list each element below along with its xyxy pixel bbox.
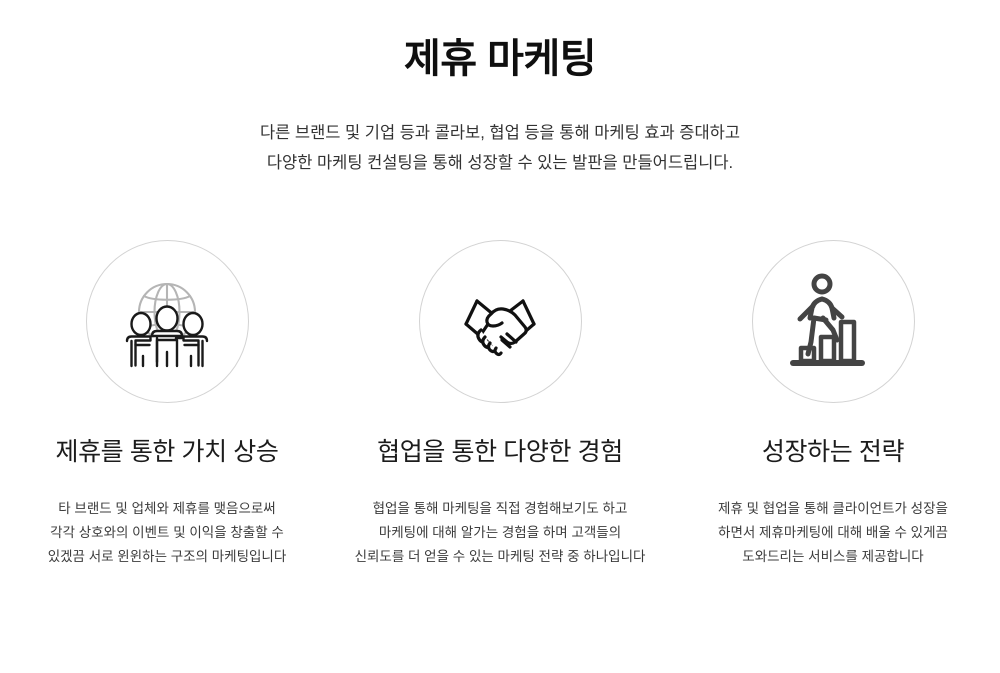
feature-desc-1: 타 브랜드 및 업체와 제휴를 맺음으로써 각각 상호와의 이벤트 및 이익을 …	[48, 497, 287, 569]
hero-section: 제휴 마케팅 다른 브랜드 및 기업 등과 콜라보, 협업 등을 통해 마케팅 …	[0, 0, 1000, 178]
feature-desc-2: 협업을 통해 마케팅을 직접 경험해보기도 하고 마케팅에 대해 알가는 경험을…	[355, 497, 646, 569]
feature-desc-2-line-2: 마케팅에 대해 알가는 경험을 하며 고객들의	[355, 521, 646, 545]
feature-title-1: 제휴를 통한 가치 상승	[55, 436, 278, 469]
people-globe-icon	[113, 268, 221, 376]
landing-page: 제휴 마케팅 다른 브랜드 및 기업 등과 콜라보, 협업 등을 통해 마케팅 …	[0, 0, 1000, 673]
feature-title-3: 성장하는 전략	[762, 436, 904, 469]
feature-list: 제휴를 통한 가치 상승 타 브랜드 및 업체와 제휴를 맺음으로써 각각 상호…	[0, 240, 1000, 569]
feature-card-collaboration-experience: 협업을 통한 다양한 경험 협업을 통해 마케팅을 직접 경험해보기도 하고 마…	[334, 240, 667, 569]
feature-card-growth-strategy: 성장하는 전략 제휴 및 협업을 통해 클라이언트가 성장을 하면서 제휴마케팅…	[667, 240, 1000, 569]
growth-person-chart-icon	[781, 268, 885, 376]
hero-subtitle-line-2: 다양한 마케팅 컨설팅을 통해 성장할 수 있는 발판을 만들어드립니다.	[150, 148, 850, 178]
feature-desc-1-line-1: 타 브랜드 및 업체와 제휴를 맺음으로써	[48, 497, 287, 521]
hero-subtitle-line-1: 다른 브랜드 및 기업 등과 콜라보, 협업 등을 통해 마케팅 효과 증대하고	[150, 118, 850, 148]
feature-desc-3-line-1: 제휴 및 협업을 통해 클라이언트가 성장을	[718, 497, 948, 521]
page-title: 제휴 마케팅	[0, 34, 1000, 84]
feature-desc-3: 제휴 및 협업을 통해 클라이언트가 성장을 하면서 제휴마케팅에 대해 배울 …	[718, 497, 948, 569]
icon-circle-3	[752, 240, 915, 403]
feature-desc-1-line-3: 있겠끔 서로 윈윈하는 구조의 마케팅입니다	[48, 545, 287, 569]
icon-circle-1	[86, 240, 249, 403]
feature-desc-2-line-3: 신뢰도를 더 얻을 수 있는 마케팅 전략 중 하나입니다	[355, 545, 646, 569]
icon-circle-2	[419, 240, 582, 403]
feature-desc-1-line-2: 각각 상호와의 이벤트 및 이익을 창출할 수	[48, 521, 287, 545]
feature-desc-2-line-1: 협업을 통해 마케팅을 직접 경험해보기도 하고	[355, 497, 646, 521]
handshake-icon	[444, 268, 556, 376]
feature-desc-3-line-2: 하면서 제휴마케팅에 대해 배울 수 있게끔	[718, 521, 948, 545]
feature-card-partnership-value: 제휴를 통한 가치 상승 타 브랜드 및 업체와 제휴를 맺음으로써 각각 상호…	[1, 240, 334, 569]
feature-desc-3-line-3: 도와드리는 서비스를 제공합니다	[718, 545, 948, 569]
hero-subtitle: 다른 브랜드 및 기업 등과 콜라보, 협업 등을 통해 마케팅 효과 증대하고…	[150, 118, 850, 178]
feature-title-2: 협업을 통한 다양한 경험	[377, 436, 623, 469]
